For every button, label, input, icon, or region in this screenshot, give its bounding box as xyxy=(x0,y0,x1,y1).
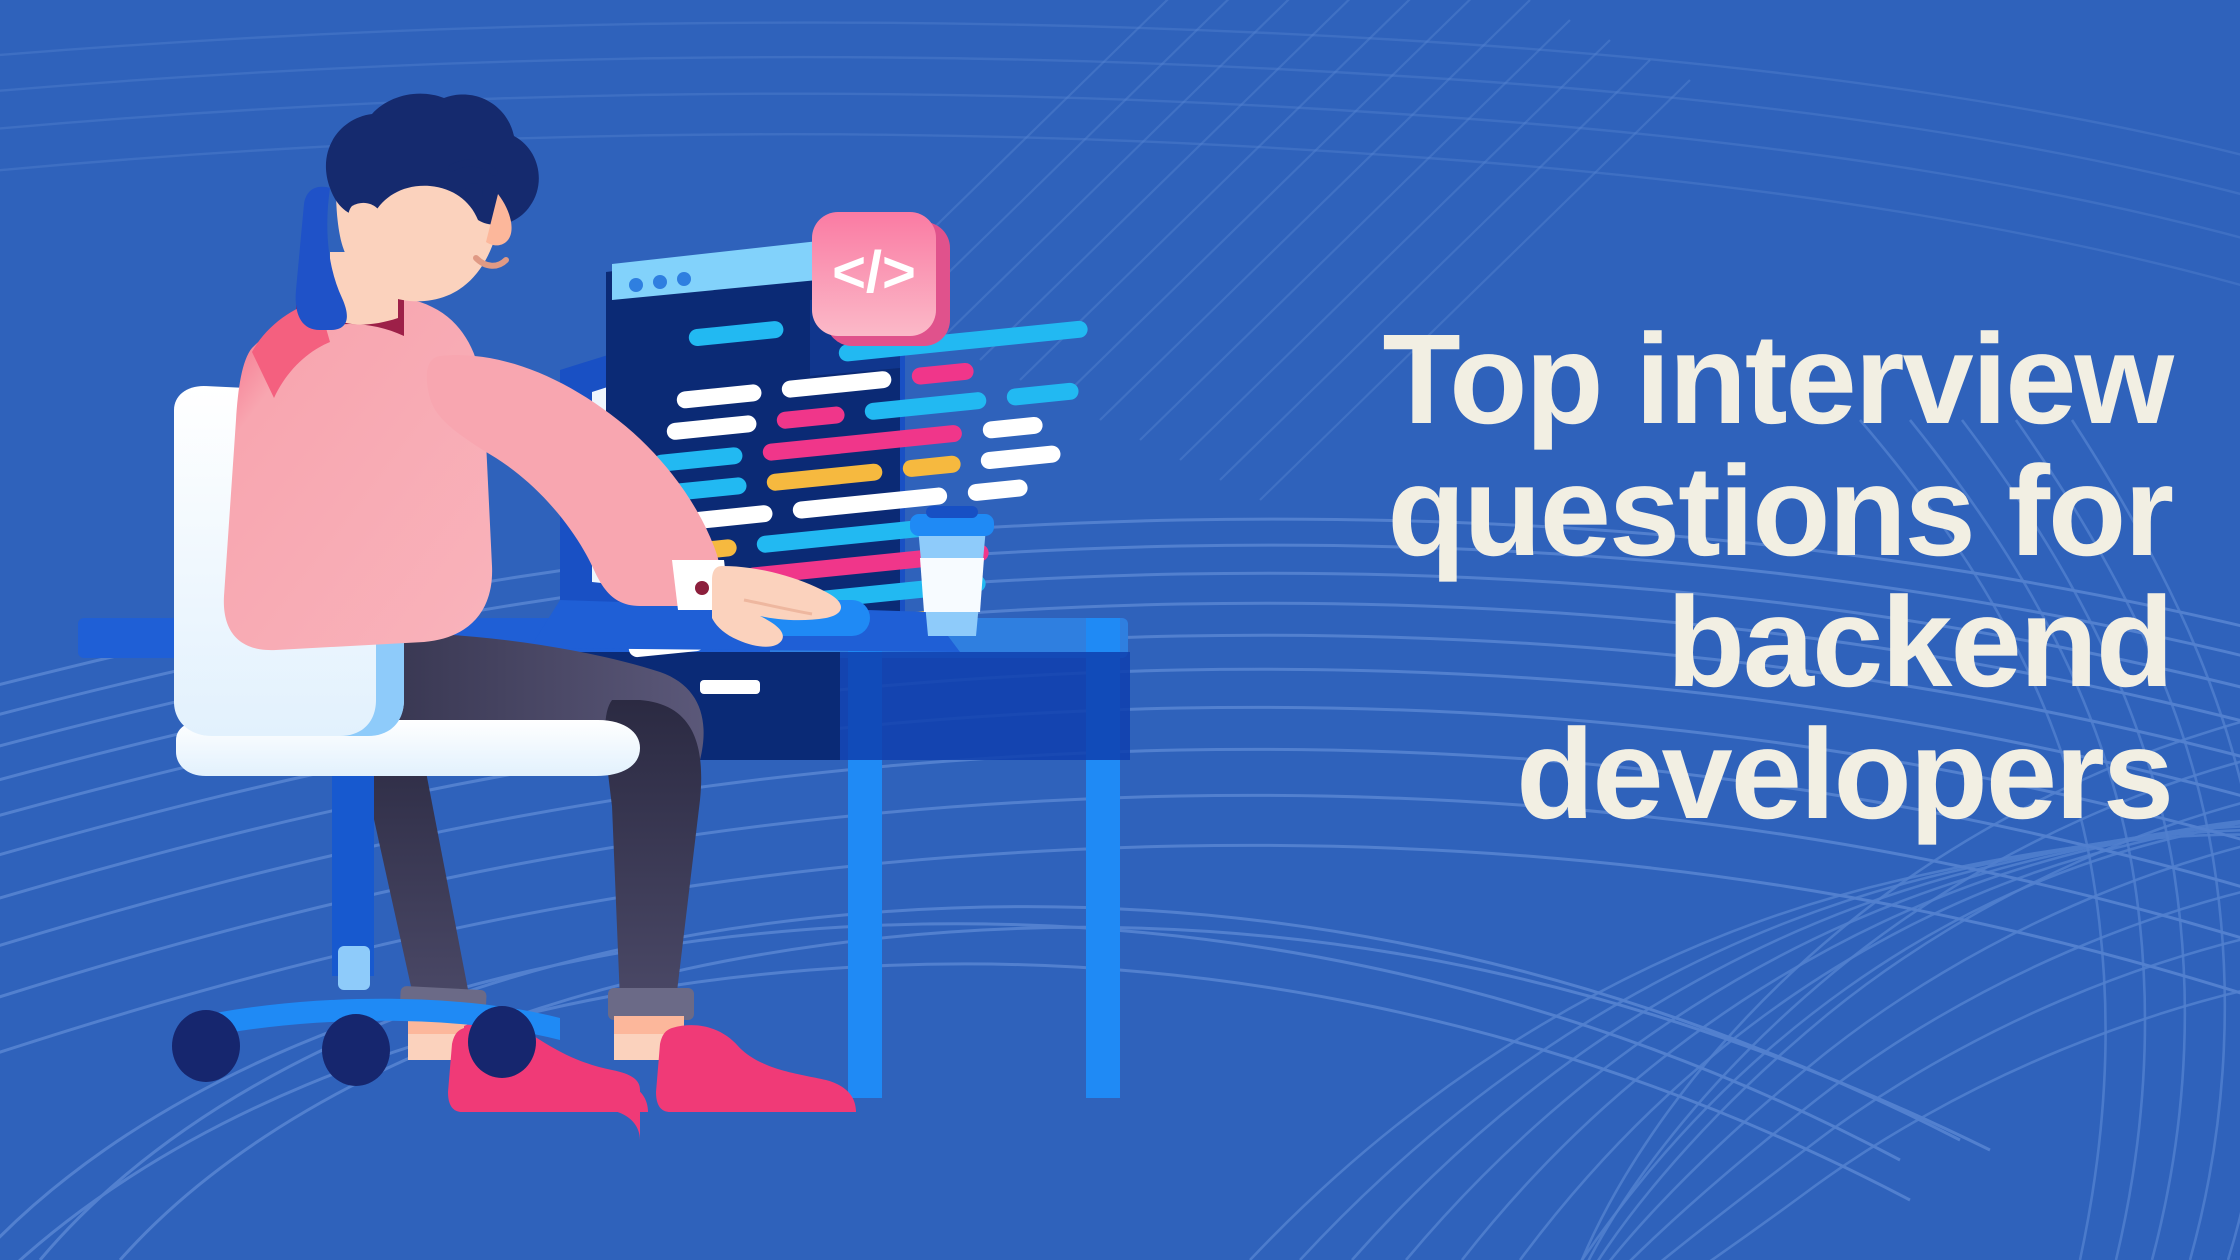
drawer-handle xyxy=(700,680,760,694)
illustration-banner: </> xyxy=(0,0,2240,1260)
code-badge-label: </> xyxy=(832,240,916,305)
chair-wheel-left xyxy=(172,1010,240,1082)
sock-right xyxy=(608,988,694,1020)
eye xyxy=(465,183,483,201)
cufflink xyxy=(695,581,709,595)
page-title: Top interview questions for backend deve… xyxy=(992,314,2172,841)
code-badge: </> xyxy=(812,212,950,346)
chair-wheel-center xyxy=(322,1014,390,1086)
chair-wheel-right xyxy=(468,1006,536,1078)
